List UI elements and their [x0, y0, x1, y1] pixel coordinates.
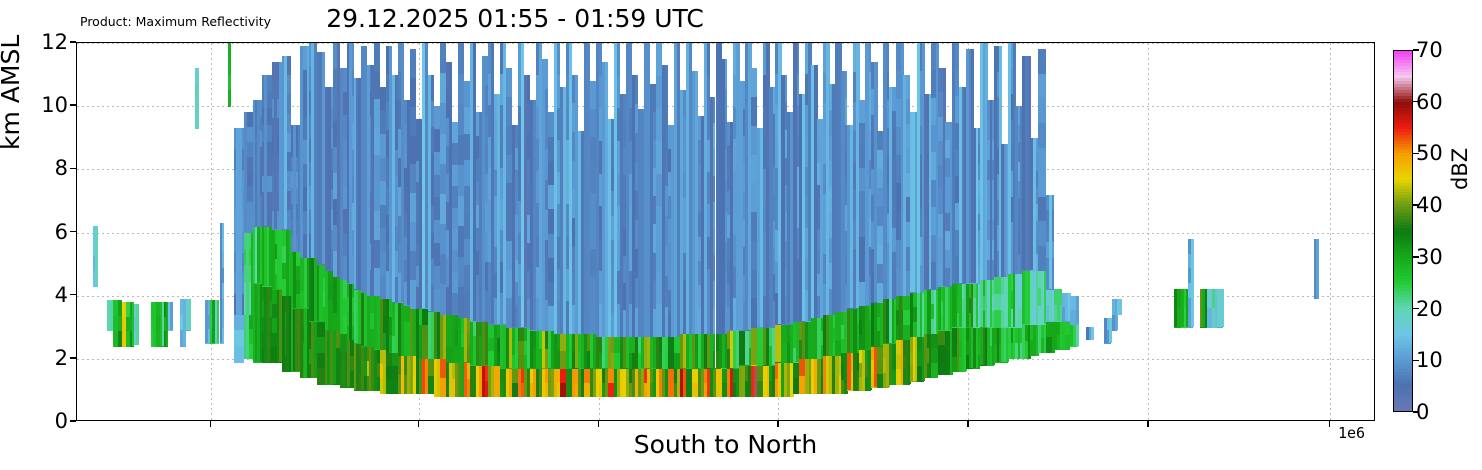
reflectivity-cell-stripe: [333, 330, 336, 384]
reflectivity-cell-stripe: [1070, 324, 1073, 346]
reflectivity-cell-stripe: [1076, 324, 1079, 346]
reflectivity-cell-stripe: [817, 359, 820, 394]
reflectivity-cell-stripe: [722, 59, 725, 334]
reflectivity-cell-stripe: [847, 353, 850, 391]
reflectivity-cell-stripe: [347, 340, 350, 387]
reflectivity-cell-stripe: [300, 46, 303, 258]
reflectivity-cell: [938, 345, 945, 360]
y-tick-label: 8: [8, 156, 68, 180]
reflectivity-cell: [1038, 246, 1046, 271]
reflectivity-cell: [410, 78, 416, 107]
reflectivity-cell: [506, 97, 512, 126]
reflectivity-cell: [317, 353, 325, 369]
y-tick-mark: [70, 357, 76, 358]
reflectivity-cell-stripe: [536, 330, 539, 368]
reflectivity-cell-stripe: [829, 315, 832, 356]
reflectivity-cell-stripe: [572, 368, 575, 396]
reflectivity-cell-stripe: [554, 368, 557, 396]
y-tick-label: 12: [8, 30, 68, 54]
reflectivity-cell-stripe: [244, 112, 247, 232]
reflectivity-cell-stripe: [763, 365, 766, 397]
reflectivity-cell-stripe: [458, 318, 461, 362]
colorbar-tick-mark: [1413, 49, 1419, 50]
reflectivity-cell-stripe: [817, 318, 820, 359]
reflectivity-cell: [994, 310, 1001, 327]
reflectivity-cell-stripe: [464, 318, 467, 362]
reflectivity-cell-stripe: [380, 299, 383, 350]
reflectivity-cell-stripe: [1181, 289, 1184, 327]
reflectivity-cell-stripe: [349, 43, 352, 283]
reflectivity-cell: [938, 330, 945, 345]
reflectivity-cell-stripe: [470, 321, 473, 365]
reflectivity-cell-stripe: [620, 94, 623, 337]
reflectivity-cell: [994, 294, 1001, 311]
reflectivity-cell-stripe: [367, 296, 370, 347]
reflectivity-cell-stripe: [987, 327, 990, 365]
reflectivity-cell-stripe: [994, 46, 997, 277]
reflectivity-cell-stripe: [745, 330, 748, 365]
reflectivity-cell-stripe: [205, 300, 208, 343]
reflectivity-cell-stripe: [614, 43, 617, 337]
reflectivity-cell-stripe: [903, 75, 906, 296]
reflectivity-cell-stripe: [1119, 299, 1121, 315]
colorbar-segment: [1394, 408, 1412, 412]
colorbar: [1393, 50, 1413, 412]
reflectivity-cell-stripe: [267, 286, 270, 362]
reflectivity-cell: [903, 296, 910, 311]
chart-title: 29.12.2025 01:55 - 01:59 UTC: [0, 4, 1030, 33]
reflectivity-cell-stripe: [95, 226, 98, 286]
reflectivity-cell-stripe: [1091, 327, 1094, 340]
x-tick-mark: [418, 421, 419, 427]
reflectivity-cell-stripe: [239, 128, 242, 314]
reflectivity-cell-stripe: [1191, 239, 1194, 327]
reflectivity-cell-stripe: [739, 81, 742, 331]
reflectivity-cell: [1038, 98, 1046, 123]
reflectivity-cell-stripe: [356, 343, 359, 390]
reflectivity-cell-stripe: [841, 71, 844, 311]
reflectivity-cell-stripe: [428, 75, 431, 312]
reflectivity-cell-stripe: [1015, 106, 1018, 273]
reflectivity-cell-stripe: [1008, 274, 1011, 328]
reflectivity-cell-stripe: [793, 43, 796, 321]
reflectivity-cell-stripe: [220, 223, 222, 343]
reflectivity-cell-stripe: [494, 324, 497, 365]
reflectivity-cell: [994, 277, 1001, 294]
y-tick-label: 10: [8, 93, 68, 117]
x-tick-mark: [777, 421, 778, 427]
y-tick-mark: [70, 420, 76, 421]
reflectivity-cell-stripe: [1316, 239, 1318, 299]
reflectivity-cell-stripe: [319, 264, 322, 321]
x-tick-mark: [210, 421, 211, 427]
reflectivity-cell-stripe: [608, 119, 611, 337]
reflectivity-cell-stripe: [1076, 296, 1079, 324]
reflectivity-cell-stripe: [997, 327, 1000, 362]
reflectivity-cell-stripe: [584, 334, 587, 369]
reflectivity-cell-stripe: [966, 283, 969, 327]
reflectivity-cell-stripe: [246, 315, 249, 359]
reflectivity-cell: [228, 59, 231, 75]
reflectivity-cell-stripe: [1008, 43, 1011, 274]
reflectivity-cell: [317, 368, 325, 384]
reflectivity-cell-stripe: [367, 65, 370, 296]
reflectivity-cell: [931, 363, 938, 378]
reflectivity-cell-stripe: [476, 321, 479, 365]
reflectivity-cell-stripe: [1049, 195, 1052, 290]
reflectivity-cell: [410, 49, 416, 78]
reflectivity-cell-stripe: [656, 337, 659, 369]
reflectivity-cell-stripe: [865, 305, 868, 349]
reflectivity-cell-stripe: [990, 100, 993, 280]
reflectivity-cell-stripe: [626, 43, 629, 337]
reflectivity-cell-stripe: [197, 68, 199, 128]
reflectivity-cell-stripe: [554, 334, 557, 369]
reflectivity-cell-stripe: [1057, 289, 1060, 321]
reflectivity-cell-stripe: [325, 270, 328, 330]
reflectivity-cell-stripe: [650, 84, 653, 337]
reflectivity-cell-stripe: [284, 56, 287, 230]
reflectivity-cell: [317, 321, 325, 337]
reflectivity-cell-stripe: [686, 334, 689, 369]
reflectivity-cell-stripe: [955, 283, 958, 327]
reflectivity-cell: [234, 315, 244, 331]
reflectivity-cell: [228, 43, 231, 59]
reflectivity-cell-stripe: [632, 75, 635, 337]
reflectivity-cell-stripe: [416, 308, 419, 359]
reflectivity-cell: [1038, 148, 1046, 173]
reflectivity-cell: [234, 330, 244, 346]
colorbar-label: dBZ: [1448, 148, 1472, 190]
reflectivity-cell-stripe: [865, 43, 868, 305]
reflectivity-cell: [317, 337, 325, 353]
reflectivity-cell-stripe: [1104, 318, 1107, 343]
reflectivity-cell-stripe: [976, 128, 979, 283]
reflectivity-cell-stripe: [349, 283, 352, 340]
colorbar-tick-label: 70: [1416, 38, 1443, 62]
y-tick-mark: [70, 41, 76, 42]
reflectivity-cells: [77, 43, 1374, 420]
reflectivity-cell-stripe: [924, 334, 927, 378]
reflectivity-cell-stripe: [524, 75, 527, 328]
x-tick-mark: [1147, 421, 1148, 427]
reflectivity-cell: [1038, 197, 1046, 222]
reflectivity-cell-stripe: [596, 43, 599, 337]
reflectivity-cell-stripe: [1008, 327, 1011, 359]
x-axis-offset-text: 1e6: [1338, 424, 1365, 442]
reflectivity-cell-stripe: [578, 368, 581, 396]
colorbar-tick-mark: [1413, 256, 1419, 257]
reflectivity-cell-stripe: [1015, 274, 1018, 328]
reflectivity-cell-stripe: [853, 353, 856, 391]
reflectivity-cell-stripe: [889, 343, 892, 384]
reflectivity-cell-stripe: [282, 296, 285, 372]
reflectivity-cell-stripe: [704, 43, 707, 334]
reflectivity-cell: [751, 68, 757, 97]
reflectivity-cell-stripe: [518, 368, 521, 396]
reflectivity-cell-stripe: [1033, 138, 1036, 271]
reflectivity-cell-stripe: [910, 293, 913, 337]
reflectivity-cell-stripe: [542, 59, 545, 331]
x-tick-mark: [598, 421, 599, 427]
reflectivity-cell-stripe: [464, 362, 467, 397]
reflectivity-cell-stripe: [386, 299, 389, 353]
reflectivity-cell-stripe: [1062, 321, 1065, 349]
reflectivity-cell-stripe: [342, 334, 345, 388]
reflectivity-cell-stripe: [976, 327, 979, 368]
y-tick-mark: [70, 231, 76, 232]
reflectivity-cell-stripe: [340, 280, 343, 334]
reflectivity-cell-stripe: [542, 368, 545, 396]
colorbar-tick-mark: [1413, 308, 1419, 309]
reflectivity-cell-stripe: [781, 75, 784, 325]
reflectivity-cell: [903, 325, 910, 340]
reflectivity-cell-stripe: [554, 43, 557, 334]
reflectivity-cell-stripe: [136, 304, 139, 345]
reflectivity-cell: [1038, 172, 1046, 197]
reflectivity-cell-stripe: [257, 226, 260, 283]
colorbar-tick-mark: [1413, 360, 1419, 361]
y-tick-label: 2: [8, 346, 68, 370]
reflectivity-cell-stripe: [596, 337, 599, 369]
reflectivity-cell-stripe: [293, 251, 296, 308]
radar-cross-section-figure: Product: Maximum Reflectivity 29.12.2025…: [0, 0, 1482, 470]
reflectivity-cell: [228, 75, 231, 91]
reflectivity-cell-stripe: [1038, 324, 1041, 352]
y-tick-label: 4: [8, 283, 68, 307]
reflectivity-cell-stripe: [392, 75, 395, 302]
reflectivity-cell-stripe: [917, 43, 920, 293]
reflectivity-cell-stripe: [959, 283, 962, 327]
reflectivity-cell-stripe: [264, 75, 267, 227]
colorbar-tick-label: 10: [1416, 348, 1443, 372]
reflectivity-cell: [234, 346, 244, 362]
reflectivity-cell-stripe: [530, 330, 533, 368]
reflectivity-cell-stripe: [452, 315, 455, 362]
colorbar-tick-mark: [1413, 411, 1419, 412]
reflectivity-cell-stripe: [257, 100, 260, 226]
reflectivity-cell: [228, 90, 231, 106]
y-tick-mark: [70, 104, 76, 105]
reflectivity-cell-stripe: [980, 280, 983, 327]
reflectivity-cell-stripe: [853, 308, 856, 352]
x-tick-mark: [967, 421, 968, 427]
plot-area: [76, 42, 1375, 421]
reflectivity-cell-stripe: [710, 97, 713, 334]
reflectivity-cell: [1038, 221, 1046, 246]
reflectivity-cell-stripe: [1054, 321, 1057, 349]
reflectivity-cell-stripe: [1220, 289, 1223, 327]
reflectivity-cell-stripe: [626, 337, 629, 369]
colorbar-tick-label: 40: [1416, 193, 1443, 217]
reflectivity-cell-stripe: [374, 349, 377, 390]
reflectivity-cell-stripe: [482, 365, 485, 397]
reflectivity-cell-stripe: [710, 334, 713, 369]
reflectivity-cell: [751, 97, 757, 126]
reflectivity-cell-stripe: [512, 125, 515, 327]
reflectivity-cell: [1038, 74, 1046, 99]
reflectivity-cell-stripe: [938, 286, 941, 330]
colorbar-tick-label: 30: [1416, 245, 1443, 269]
reflectivity-cell: [1038, 123, 1046, 148]
colorbar-tick-label: 50: [1416, 141, 1443, 165]
colorbar-tick-mark: [1413, 101, 1419, 102]
reflectivity-cell-stripe: [1030, 270, 1033, 324]
colorbar-tick-label: 60: [1416, 90, 1443, 114]
reflectivity-cell-stripe: [1022, 324, 1025, 359]
reflectivity-cell: [903, 310, 910, 325]
reflectivity-cell-stripe: [410, 356, 413, 394]
reflectivity-cell-stripe: [340, 68, 343, 280]
reflectivity-cell: [458, 43, 464, 74]
reflectivity-cell-stripe: [1086, 327, 1089, 340]
reflectivity-cell: [931, 334, 938, 349]
reflectivity-cell-stripe: [170, 302, 173, 330]
reflectivity-cell-stripe: [293, 125, 296, 251]
reflectivity-cell-stripe: [361, 346, 364, 390]
y-tick-mark: [70, 168, 76, 169]
reflectivity-cell-stripe: [662, 65, 665, 337]
reflectivity-cell-stripe: [1018, 327, 1021, 359]
reflectivity-cell-stripe: [274, 62, 277, 229]
reflectivity-cell-stripe: [692, 334, 695, 369]
reflectivity-cell-stripe: [805, 359, 808, 394]
colorbar-tick-mark: [1413, 204, 1419, 205]
reflectivity-cell: [931, 348, 938, 363]
colorbar-tick-mark: [1413, 153, 1419, 154]
reflectivity-cell-stripe: [272, 229, 275, 289]
reflectivity-cell: [938, 360, 945, 375]
reflectivity-cell-stripe: [1174, 289, 1177, 327]
x-tick-mark: [1329, 421, 1330, 427]
reflectivity-cell-stripe: [188, 299, 191, 331]
reflectivity-cell-stripe: [596, 368, 599, 396]
reflectivity-cell-stripe: [246, 233, 249, 315]
reflectivity-cell-stripe: [680, 90, 683, 333]
colorbar-tick-label: 20: [1416, 297, 1443, 321]
reflectivity-cell-stripe: [300, 308, 303, 377]
reflectivity-cell-stripe: [482, 56, 485, 321]
reflectivity-cell-stripe: [889, 87, 892, 299]
reflectivity-cell-stripe: [990, 280, 993, 327]
reflectivity-cell-stripe: [542, 330, 545, 368]
reflectivity-cell: [1038, 49, 1046, 74]
reflectivity-cell-stripe: [952, 43, 955, 283]
reflectivity-cell-stripe: [769, 87, 772, 327]
reflectivity-cell-stripe: [327, 87, 330, 270]
reflectivity-cell-stripe: [608, 337, 611, 369]
reflectivity-cell-stripe: [626, 368, 629, 396]
y-tick-label: 0: [8, 409, 68, 433]
reflectivity-cell: [506, 68, 512, 97]
y-tick-label: 6: [8, 220, 68, 244]
reflectivity-cell: [374, 43, 380, 72]
reflectivity-cell-stripe: [899, 296, 902, 340]
reflectivity-cell-stripe: [835, 356, 838, 394]
x-axis-label: South to North: [76, 430, 1375, 459]
reflectivity-cell-stripe: [883, 43, 886, 299]
y-tick-mark: [70, 294, 76, 295]
